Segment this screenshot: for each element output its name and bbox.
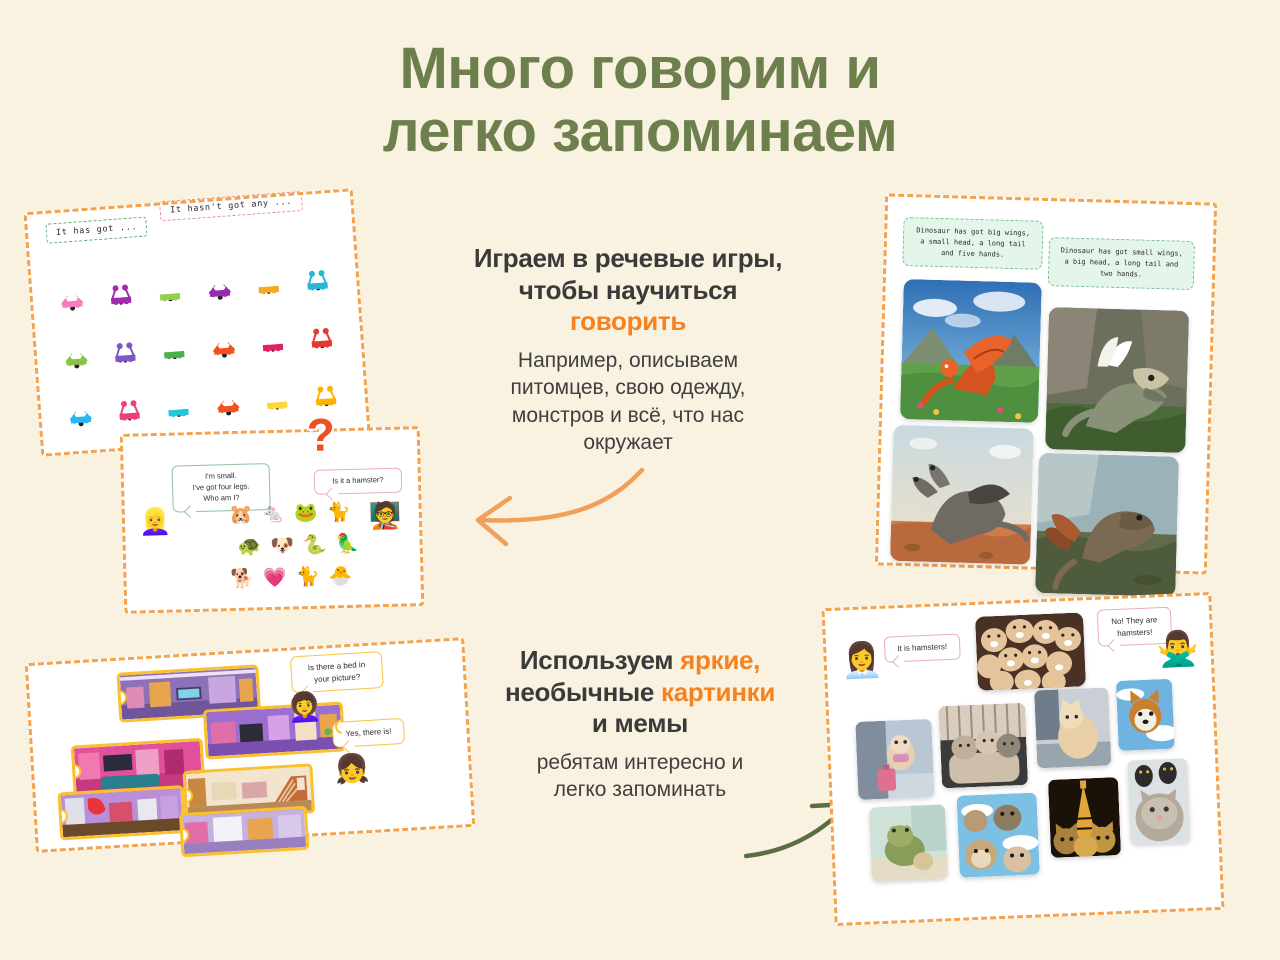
- page-title: Много говорим и легко запоминаем: [0, 38, 1280, 163]
- speech-bubble-house-answer: Yes, there is!: [332, 718, 405, 748]
- pet-sticker: 🐸: [294, 504, 318, 524]
- meme-photo-frog-bench: [869, 804, 948, 881]
- speaking-sub-line-2: питомцев, свою одежду,: [408, 374, 848, 401]
- images-sub-line-2: легко запоминать: [430, 776, 850, 803]
- pet-sticker: 🐁: [261, 505, 285, 525]
- meme-photo-hamster-pile: [975, 612, 1086, 690]
- images-heading-line-3: и мемы: [430, 708, 850, 740]
- tag-it-hasnt-got: It hasn't got any ...: [159, 191, 302, 221]
- card-who-am-i[interactable]: ? I'm small. I've got four legs. Who am …: [120, 426, 425, 614]
- monster-sticker: [298, 342, 351, 401]
- card-dinosaurs[interactable]: Dinosaur has got big wings, a small head…: [875, 193, 1217, 574]
- room-photo-2: 2: [203, 701, 346, 759]
- images-sub-line-1: ребятам интересно и: [430, 749, 850, 776]
- question-mark-icon: ?: [306, 407, 336, 462]
- avatar-student-right: 🧑‍🏫: [369, 502, 402, 529]
- bubble-tail: [184, 505, 197, 518]
- riddle-line-3: Who am I?: [181, 492, 261, 505]
- pet-sticker: 🐶: [270, 536, 294, 556]
- text-block-images: Используем яркие, необычные картинки и м…: [430, 645, 850, 804]
- avatar-house-answer: 👧: [334, 754, 370, 784]
- monster-grid: [41, 226, 353, 420]
- title-line-1: Много говорим и: [0, 38, 1280, 101]
- bubble-tail: [1107, 639, 1120, 652]
- images-heading-line-1: Используем яркие,: [430, 645, 850, 677]
- meme-right-text: No! They are hamsters!: [1111, 615, 1157, 637]
- room-photo-4: 4: [57, 785, 186, 840]
- card-memes[interactable]: 👩‍💼 It is hamsters!: [822, 592, 1225, 926]
- pet-sticker-row-2: 🐢🐶🐍🦜: [237, 535, 359, 557]
- riddle-line-2: I've got four legs.: [181, 481, 261, 494]
- meme-photo-cats-eiffel: [1048, 777, 1121, 858]
- speech-bubble-guess: Is it a hamster?: [314, 468, 403, 495]
- monster-sticker: [142, 237, 195, 296]
- speaking-sub-line-3: монстров и всё, что нас: [408, 402, 848, 429]
- monster-sticker: [101, 357, 154, 416]
- avatar-house-question: 👩‍🦱: [286, 693, 322, 723]
- slide-root: Много говорим и легко запоминаем It has …: [0, 0, 1280, 960]
- pet-sticker: 🐹: [229, 506, 253, 526]
- bubble-tail: [892, 655, 905, 668]
- pet-sticker-row-1: 🐹🐁🐸🐈: [229, 503, 351, 525]
- avatar-meme-right: 🙅‍♂️: [1156, 632, 1200, 668]
- meme-photo-kitten-basket: [939, 703, 1028, 789]
- monster-sticker: [240, 230, 293, 289]
- meme-photo-dogs-sky: [956, 792, 1039, 877]
- pet-sticker-row-3: 🐕💗🐈🐣: [230, 567, 352, 589]
- speaking-sub-line-1: Например, описываем: [408, 347, 848, 374]
- text-block-speaking: Играем в речевые игры, чтобы научиться г…: [408, 243, 848, 456]
- pet-sticker: 💗: [263, 569, 287, 589]
- meme-left-text: It is hamsters!: [897, 642, 947, 653]
- monster-sticker: [293, 284, 346, 343]
- monster-sticker: [92, 241, 145, 300]
- dino-photo-4: [1035, 453, 1179, 597]
- images-heading: Используем яркие, необычные картинки и м…: [430, 645, 850, 740]
- images-heading-accent-2: картинки: [661, 677, 775, 707]
- house-question-text: Is there a bed in your picture?: [308, 660, 366, 684]
- pet-sticker: 🐍: [303, 536, 327, 556]
- dino-caption-left: Dinosaur has got big wings, a small head…: [902, 217, 1043, 269]
- pet-sticker: 🐈: [296, 568, 320, 588]
- images-heading-line-2: необычные картинки: [430, 677, 850, 709]
- speaking-sub-line-4: окружает: [408, 429, 848, 456]
- pet-sticker: 🐈: [327, 503, 351, 523]
- monster-sticker: [289, 226, 342, 285]
- images-heading-accent-1: яркие,: [680, 645, 760, 675]
- speaking-heading-line-1: Играем в речевые игры,: [408, 243, 848, 275]
- pet-sticker: 🐕: [230, 569, 254, 589]
- tag-it-has-got: It has got ...: [45, 216, 148, 243]
- meme-photo-corgi-sky: [1116, 679, 1175, 751]
- avatar-meme-left: 👩‍💼: [840, 643, 884, 679]
- card-house-rooms[interactable]: 1 2: [25, 637, 475, 853]
- house-answer-text: Yes, there is!: [345, 727, 391, 739]
- title-line-2: легко запоминаем: [0, 101, 1280, 164]
- guess-text: Is it a hamster?: [332, 475, 383, 485]
- dino-photo-3: [890, 425, 1034, 565]
- speaking-subtext: Например, описываем питомцев, свою одежд…: [408, 347, 848, 456]
- pet-sticker: 🐢: [237, 537, 261, 557]
- speech-bubble-meme-left: It is hamsters!: [884, 634, 961, 663]
- speech-bubble-house-question: Is there a bed in your picture?: [290, 651, 384, 694]
- monster-sticker: [244, 288, 297, 347]
- monster-sticker: [146, 295, 199, 354]
- pet-sticker: 🦜: [335, 535, 359, 555]
- monster-sticker: [191, 234, 244, 293]
- bubble-tail: [342, 740, 355, 753]
- meme-photo-cat-chair: [1034, 687, 1111, 768]
- avatar-student-left: 👱‍♀️: [139, 508, 172, 535]
- pet-sticker: 🐣: [328, 567, 352, 587]
- meme-photo-cat-dogs: [1127, 758, 1190, 844]
- dino-photo-2: [1045, 307, 1189, 453]
- images-subtext: ребятам интересно и легко запоминать: [430, 749, 850, 804]
- speaking-heading: Играем в речевые игры, чтобы научиться г…: [408, 243, 848, 338]
- monster-sticker: [248, 346, 301, 405]
- speaking-heading-line-2: чтобы научиться: [408, 275, 848, 307]
- meme-photo-hamster-suitcase: [855, 719, 934, 800]
- images-heading-part-2: необычные: [505, 677, 661, 707]
- monster-sticker: [150, 353, 203, 412]
- dino-photo-1: [900, 279, 1042, 423]
- images-heading-part-1: Используем: [520, 645, 680, 675]
- arrow-orange-left-icon: [462, 462, 652, 554]
- bubble-tail: [325, 487, 338, 500]
- monster-sticker: [97, 299, 150, 358]
- room-photo-6: 6: [179, 806, 309, 858]
- dino-caption-right: Dinosaur has got small wings, a big head…: [1048, 237, 1195, 290]
- monster-sticker: [43, 244, 96, 303]
- speaking-heading-accent: говорить: [408, 306, 848, 338]
